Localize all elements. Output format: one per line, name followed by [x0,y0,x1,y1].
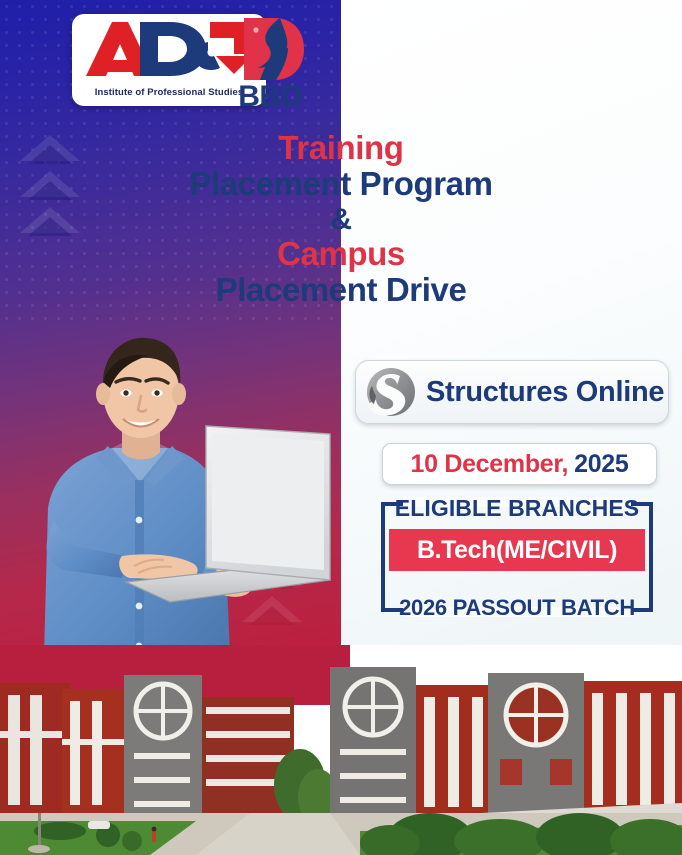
campus-buildings-photo [0,645,682,855]
eligibility-block: ELIGIBLE BRANCHES B.Tech(ME/CIVIL) 2026 … [381,502,653,612]
eligible-branches-text: B.Tech(ME/CIVIL) [417,536,617,565]
eligible-branches-banner: B.Tech(ME/CIVIL) [389,529,645,571]
bbd-logo: BBD [222,16,318,114]
s-circle-icon [362,366,420,418]
event-date-badge: 10 December, 2025 [382,443,657,485]
event-date-day-month: 10 December, [410,450,568,479]
bbd-logo-text: BBD [222,80,318,114]
campus-illustration [0,645,682,855]
title-line-training: Training [0,130,682,166]
eligibility-heading: ELIGIBLE BRANCHES [381,495,653,522]
poster-title: Training Placement Program & Campus Plac… [0,130,682,308]
company-name: Structures Online [426,376,664,409]
company-name-badge: Structures Online [355,360,669,424]
title-line-placement-drive: Placement Drive [0,272,682,308]
bbd-logo-mark [236,16,306,82]
title-line-placement-program: Placement Program [0,166,682,202]
title-line-campus: Campus [0,236,682,272]
title-line-ampersand: & [0,203,682,236]
student-with-laptop-photo [30,330,341,652]
event-date-year: 2025 [574,450,628,479]
passout-batch-text: 2026 PASSOUT BATCH [381,595,653,621]
placement-drive-poster: Institute of Professional Studies BBD Tr… [0,0,682,855]
